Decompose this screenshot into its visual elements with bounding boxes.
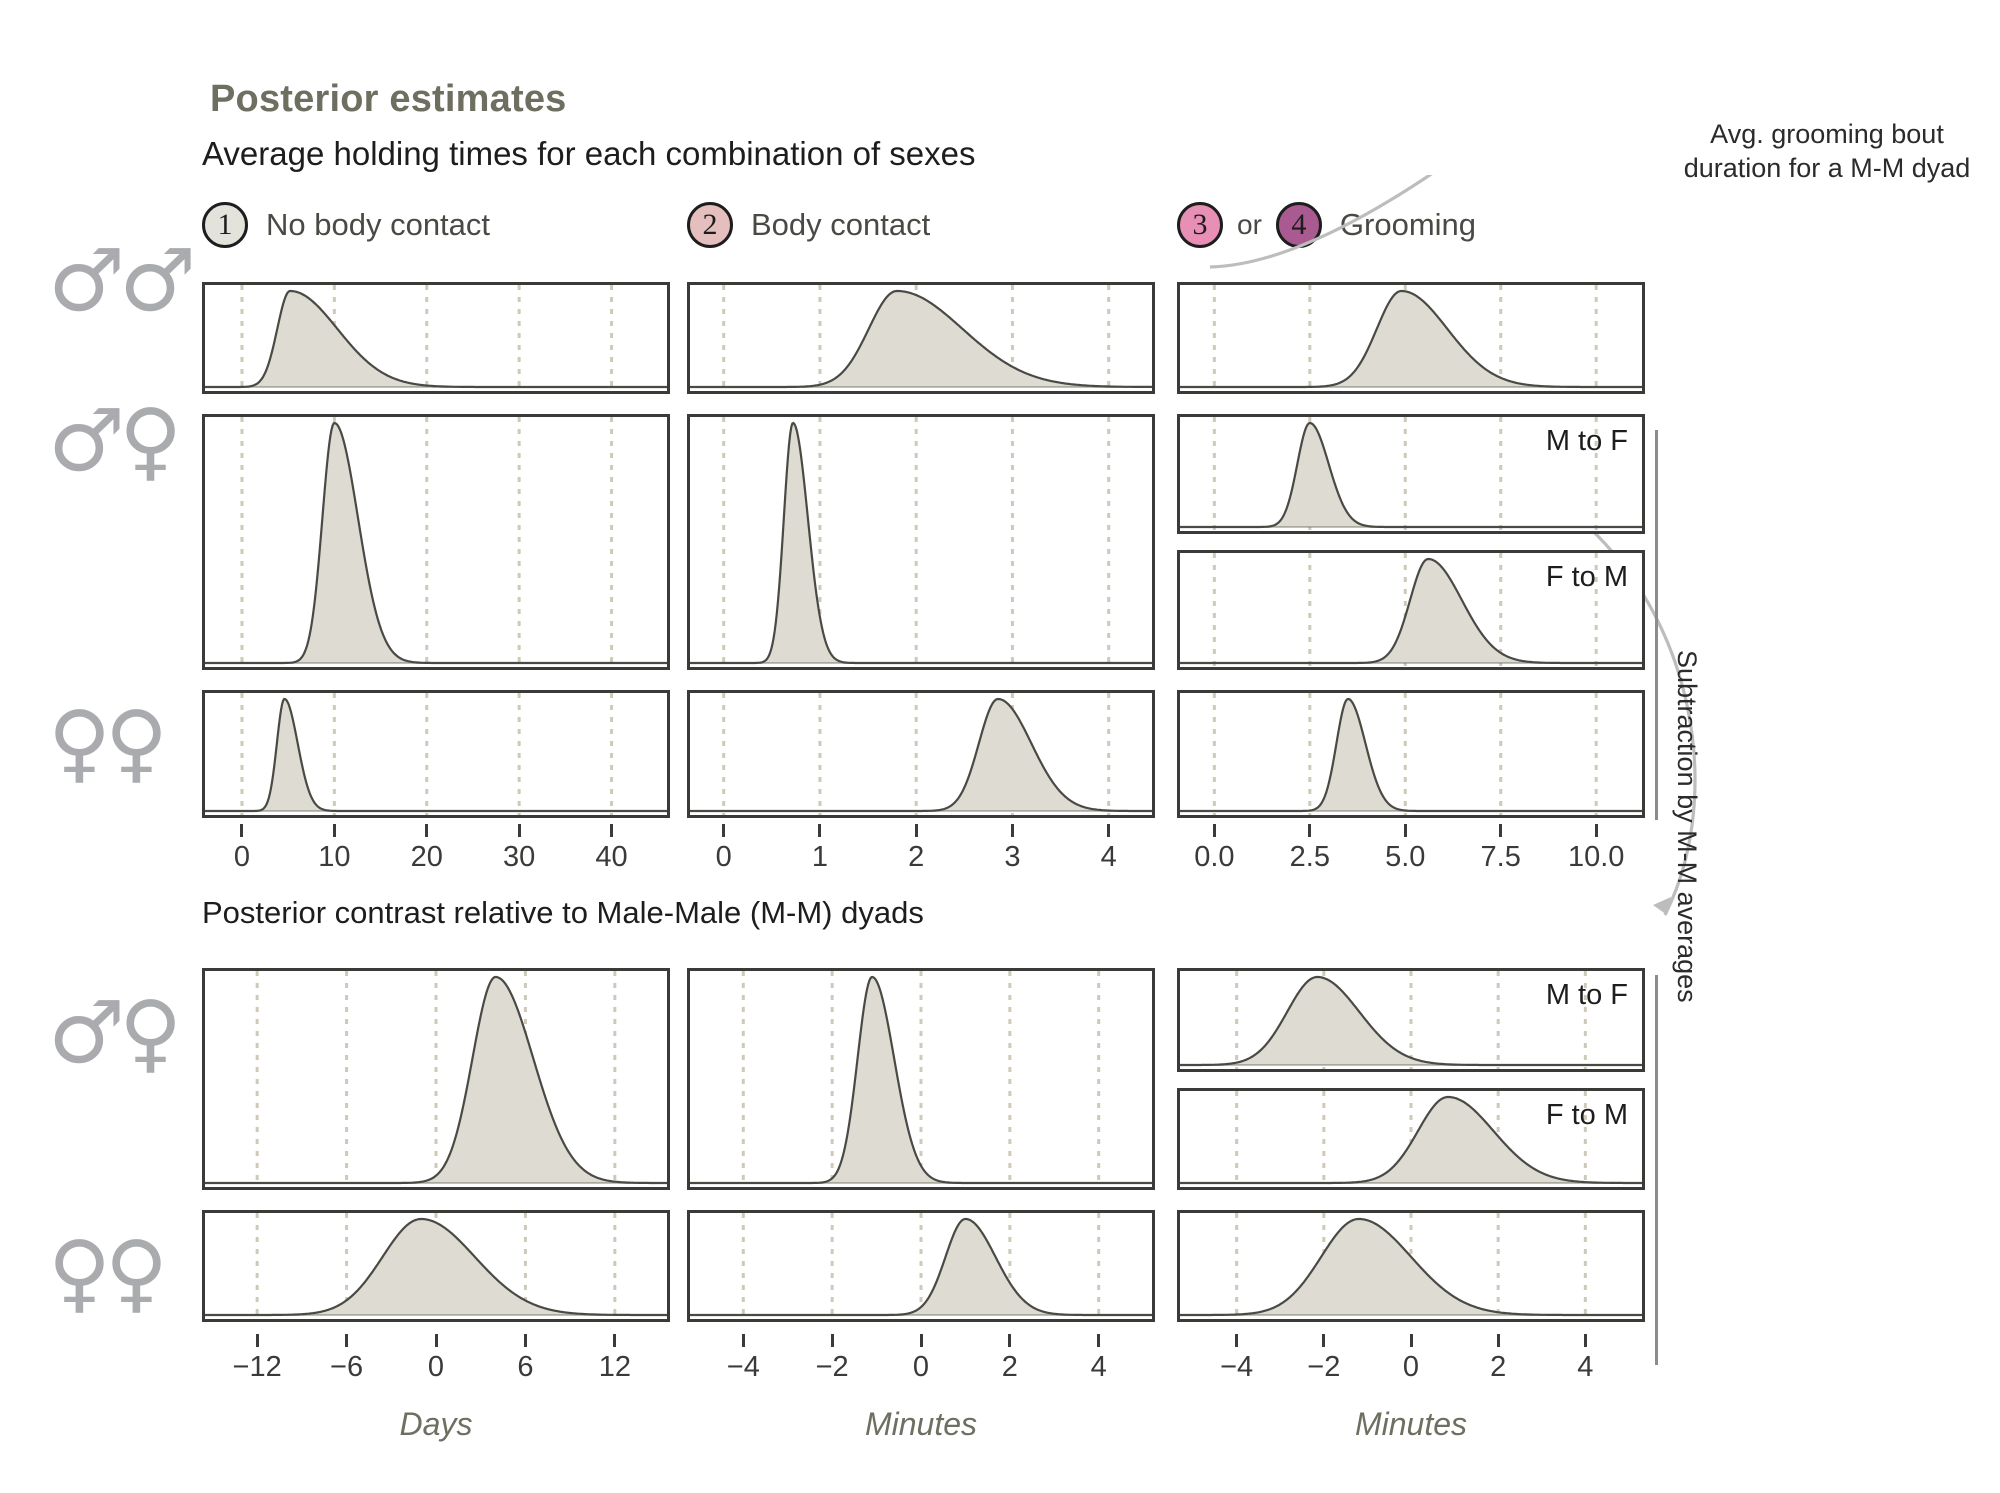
density-panel-estimates-m-f-no-body-contact — [202, 414, 670, 670]
axis-tick-label: 4 — [1577, 1351, 1593, 1384]
axis-tick — [920, 1334, 923, 1347]
density-panel-contrast-f-f-no-body-contact — [202, 1210, 670, 1322]
axis-tick — [1008, 1334, 1011, 1347]
density-panel-contrast-f-m-grooming: F to M — [1177, 1088, 1645, 1190]
page-subtitle: Average holding times for each combinati… — [202, 135, 976, 173]
axis-tick-label: −4 — [1220, 1351, 1253, 1384]
axis-tick-label: 12 — [599, 1351, 631, 1384]
density-panel-estimates-m-m-grooming — [1177, 282, 1645, 394]
row-label-female-female: ♀♀ — [48, 700, 162, 786]
axis-tick-label: 1 — [812, 841, 828, 874]
axis-tick-label: 0 — [428, 1351, 444, 1384]
axis-tick — [518, 824, 521, 837]
axis-tick — [1213, 824, 1216, 837]
axis-title-contrast-col3: Minutes — [1355, 1406, 1467, 1443]
axis-tick-label: 4 — [1091, 1351, 1107, 1384]
row-label-male-male: ♂♂ — [48, 238, 190, 324]
contrast-row-label-male-female: ♂♀ — [48, 990, 176, 1076]
axis-tick — [722, 824, 725, 837]
axis-tick — [1107, 824, 1110, 837]
axis-tick — [742, 1334, 745, 1347]
axis-tick-label: 2 — [1490, 1351, 1506, 1384]
panel-tag-f-to-m: F to M — [1546, 1099, 1628, 1132]
axis-tick — [1497, 1334, 1500, 1347]
badge-2: 2 — [687, 202, 733, 248]
legend-label-body-contact: Body contact — [751, 207, 930, 243]
density-panel-estimates-f-f-no-body-contact — [202, 690, 670, 818]
density-panel-contrast-m-f-no-body-contact — [202, 968, 670, 1190]
axis-tick-label: 0 — [234, 841, 250, 874]
axis-tick — [1499, 824, 1502, 837]
density-panel-estimates-m-m-no-body-contact — [202, 282, 670, 394]
axis-tick — [240, 824, 243, 837]
axis-tick-label: 10.0 — [1568, 841, 1624, 874]
legend-item-body-contact: 2 Body contact — [687, 200, 930, 250]
axis-tick-label: 3 — [1004, 841, 1020, 874]
legend-label-no-body-contact: No body contact — [266, 207, 490, 243]
density-panel-estimates-m-f-grooming: M to F — [1177, 414, 1645, 534]
x-axis-contrast-col2: −4−2024 — [687, 1334, 1155, 1394]
estimates-bracket-rule — [1655, 430, 1658, 820]
panel-tag-f-to-m: F to M — [1546, 561, 1628, 594]
x-axis-estimates-col3: 0.02.55.07.510.0 — [1177, 824, 1645, 884]
density-panel-contrast-f-f-grooming — [1177, 1210, 1645, 1322]
density-panel-contrast-m-f-grooming: M to F — [1177, 968, 1645, 1072]
axis-tick-label: 2 — [1002, 1351, 1018, 1384]
axis-tick-label: 2.5 — [1290, 841, 1330, 874]
axis-tick — [425, 824, 428, 837]
density-panel-estimates-m-f-body-contact — [687, 414, 1155, 670]
axis-tick-label: 30 — [503, 841, 535, 874]
axis-tick — [256, 1334, 259, 1347]
page-title: Posterior estimates — [210, 78, 567, 121]
axis-tick-label: −6 — [330, 1351, 363, 1384]
x-axis-estimates-col2: 01234 — [687, 824, 1155, 884]
axis-tick-label: 0 — [913, 1351, 929, 1384]
density-panel-estimates-f-m-grooming: F to M — [1177, 550, 1645, 670]
axis-title-contrast-col1: Days — [400, 1406, 473, 1443]
axis-tick-label: 0.0 — [1194, 841, 1234, 874]
x-axis-estimates-col1: 010203040 — [202, 824, 670, 884]
panel-tag-m-to-f: M to F — [1546, 979, 1628, 1012]
axis-tick-label: 4 — [1101, 841, 1117, 874]
axis-tick — [333, 824, 336, 837]
row-label-male-female: ♂♀ — [48, 398, 176, 484]
axis-tick-label: 7.5 — [1481, 841, 1521, 874]
contrast-section-title: Posterior contrast relative to Male-Male… — [202, 895, 924, 931]
axis-tick — [1595, 824, 1598, 837]
x-axis-contrast-col3: −4−2024 — [1177, 1334, 1645, 1394]
axis-tick-label: −4 — [727, 1351, 760, 1384]
badge-1: 1 — [202, 202, 248, 248]
axis-tick — [915, 824, 918, 837]
axis-tick-label: 0 — [1403, 1351, 1419, 1384]
axis-tick-label: 2 — [908, 841, 924, 874]
axis-tick — [1011, 824, 1014, 837]
axis-tick — [1404, 824, 1407, 837]
axis-tick-label: −12 — [233, 1351, 282, 1384]
axis-tick-label: −2 — [1307, 1351, 1340, 1384]
panel-tag-m-to-f: M to F — [1546, 425, 1628, 458]
axis-tick-label: 10 — [318, 841, 350, 874]
axis-tick — [610, 824, 613, 837]
density-panel-contrast-m-f-body-contact — [687, 968, 1155, 1190]
axis-tick-label: 6 — [517, 1351, 533, 1384]
axis-tick-label: −2 — [816, 1351, 849, 1384]
axis-tick — [435, 1334, 438, 1347]
density-panel-estimates-f-f-grooming — [1177, 690, 1645, 818]
x-axis-contrast-col1: −12−60612 — [202, 1334, 670, 1394]
density-panel-estimates-m-m-body-contact — [687, 282, 1155, 394]
contrast-bracket-rule — [1655, 975, 1658, 1365]
axis-tick — [831, 1334, 834, 1347]
axis-tick — [613, 1334, 616, 1347]
axis-tick — [524, 1334, 527, 1347]
axis-tick — [1235, 1334, 1238, 1347]
axis-tick — [1410, 1334, 1413, 1347]
axis-tick — [1584, 1334, 1587, 1347]
subtraction-annotation-text: Subtraction by M-M averages — [1671, 650, 1702, 1070]
axis-tick — [1097, 1334, 1100, 1347]
axis-tick-label: 5.0 — [1385, 841, 1425, 874]
axis-tick — [345, 1334, 348, 1347]
density-panel-contrast-f-f-body-contact — [687, 1210, 1155, 1322]
axis-tick — [1308, 824, 1311, 837]
density-panel-estimates-f-f-body-contact — [687, 690, 1155, 818]
legend-item-no-body-contact: 1 No body contact — [202, 200, 490, 250]
axis-title-contrast-col2: Minutes — [865, 1406, 977, 1443]
axis-tick — [818, 824, 821, 837]
axis-tick-label: 0 — [716, 841, 732, 874]
axis-tick-label: 40 — [595, 841, 627, 874]
axis-tick-label: 20 — [411, 841, 443, 874]
contrast-row-label-female-female: ♀♀ — [48, 1230, 162, 1316]
axis-tick — [1322, 1334, 1325, 1347]
